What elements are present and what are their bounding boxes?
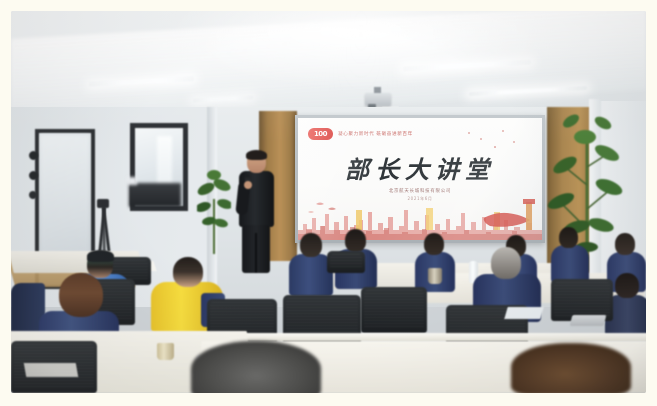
audience-head (491, 247, 521, 279)
sparkle-icon (513, 141, 515, 143)
chair-mesh-back (364, 290, 424, 329)
conference-table (181, 333, 646, 341)
window-cabinet (129, 183, 181, 207)
audience-head (615, 233, 635, 255)
dove-icon (480, 138, 482, 140)
audience-member-foreground (511, 343, 631, 393)
audience-member-foreground (191, 341, 321, 393)
office-chair (327, 251, 365, 273)
screen-banner-slogan: 凝心聚力新时代 砥砺奋进新百年 (338, 131, 413, 137)
audience-head (559, 227, 578, 248)
potted-plant (197, 159, 231, 254)
projection-screen-surface: 100 凝心聚力新时代 砥砺奋进新百年 部长大讲堂 北京航天长城科技有限公司 2… (298, 118, 542, 240)
document-sheet (24, 363, 78, 377)
audience-head (173, 257, 203, 287)
audience-head (511, 343, 631, 393)
audience-head (300, 233, 322, 257)
paper-cup (157, 343, 174, 360)
screen-main-title: 部长大讲堂 (298, 150, 542, 185)
office-chair (361, 287, 427, 333)
audience-head (191, 341, 321, 393)
paper-cup (428, 268, 442, 284)
audience-head (615, 273, 639, 298)
audience-head (424, 233, 444, 255)
presenter-hair (246, 150, 267, 160)
audience-member (551, 227, 589, 283)
ceiling-glow (161, 11, 561, 91)
projection-screen[interactable]: 100 凝心聚力新时代 砥砺奋进新百年 部长大讲堂 北京航天长城科技有限公司 2… (295, 115, 545, 243)
cpc-100th-anniversary-logo: 100 (308, 128, 333, 140)
window-box (127, 177, 137, 185)
photo-canvas: 100 凝心聚力新时代 砥砺奋进新百年 部长大讲堂 北京航天长城科技有限公司 2… (11, 11, 646, 393)
sparkle-icon (502, 130, 504, 132)
audience-torso (551, 245, 589, 283)
door-hinge-icon (29, 151, 38, 160)
screen-subtitle: 北京航天长城科技有限公司 (298, 188, 542, 194)
sparkle-icon (494, 146, 496, 148)
presenter-hand (244, 181, 252, 189)
document-sheet (504, 307, 543, 319)
door-hinge-icon (29, 171, 38, 180)
door-hinge-icon (29, 191, 37, 199)
photo-frame: 100 凝心聚力新时代 砥砺奋进新百年 部长大讲堂 北京航天长城科技有限公司 2… (0, 0, 657, 406)
dove-icon (468, 132, 470, 134)
mobile-phone (570, 315, 607, 326)
presenter-leg-gap (255, 233, 257, 273)
chair-mesh-back (554, 282, 610, 317)
chair-mesh-back (330, 254, 362, 269)
audience-head (59, 273, 103, 317)
cap-icon (87, 250, 114, 262)
presenter (233, 151, 279, 273)
audience-head (345, 229, 366, 252)
